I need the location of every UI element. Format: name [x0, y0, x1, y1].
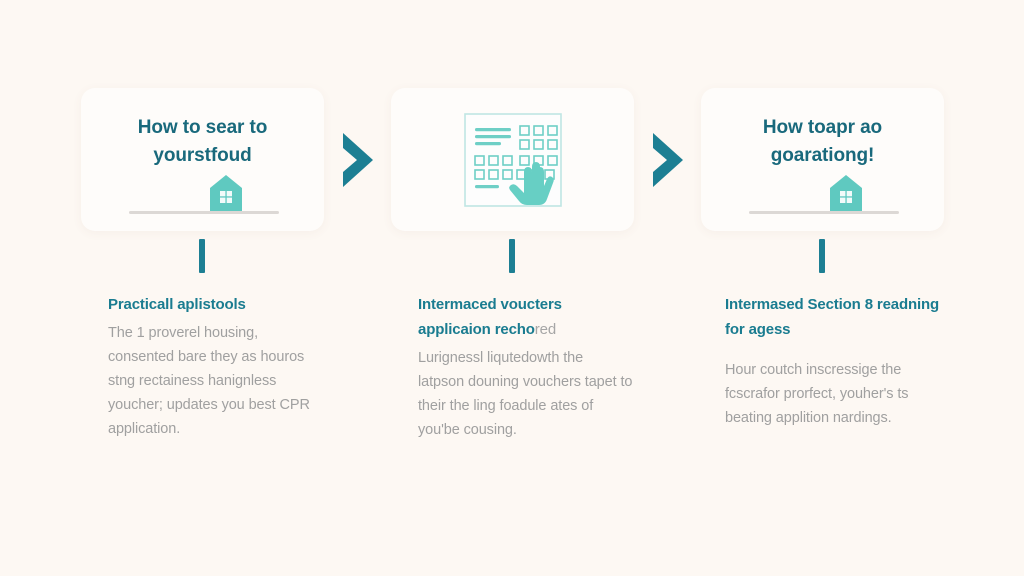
house-icon: [829, 174, 863, 212]
column-1-heading: Practicall aplistools: [108, 292, 323, 317]
cards-row: How to sear to yourstfoud: [0, 88, 1024, 231]
column-2-body: Lurignessl liqutedowth the latpson douni…: [418, 346, 633, 442]
card-step-3-title: How toapr ao goarationg!: [701, 114, 944, 170]
card-step-3[interactable]: How toapr ao goarationg!: [701, 88, 944, 231]
infographic-canvas: How to sear to yourstfoud: [0, 0, 1024, 576]
house-icon: [209, 174, 243, 212]
column-2-heading: Intermaced voucters applicaion rechored: [418, 292, 633, 342]
column-3-heading: Intermased Section 8 readning for agess: [725, 292, 940, 342]
chevron-right-icon: [338, 131, 380, 189]
connector-line-2: [509, 239, 515, 273]
column-2-heading-trail: red: [535, 321, 556, 338]
card-step-1-title: How to sear to yourstfoud: [81, 114, 324, 170]
card-step-1[interactable]: How to sear to yourstfoud: [81, 88, 324, 231]
card-step-2[interactable]: [391, 88, 634, 231]
form-checklist-hand-icon: [464, 113, 562, 207]
house-scene-1: [129, 174, 279, 214]
text-column-2: Intermaced voucters applicaion rechored …: [418, 292, 633, 442]
chevron-right-icon: [648, 131, 690, 189]
column-1-heading-main: Practicall aplistools: [108, 296, 246, 313]
ground-line: [129, 211, 279, 214]
text-column-3: Intermased Section 8 readning for agess …: [725, 292, 940, 430]
column-3-body: Hour coutch inscressige the fcscrafor pr…: [725, 358, 940, 430]
connector-line-3: [819, 239, 825, 273]
connector-line-1: [199, 239, 205, 273]
column-3-heading-main: Intermased Section 8 readning for agess: [725, 296, 939, 338]
column-1-body: The 1 proverel housing, consented bare t…: [108, 321, 323, 441]
house-scene-2: [749, 174, 899, 214]
text-column-1: Practicall aplistools The 1 proverel hou…: [108, 292, 323, 441]
ground-line: [749, 211, 899, 214]
